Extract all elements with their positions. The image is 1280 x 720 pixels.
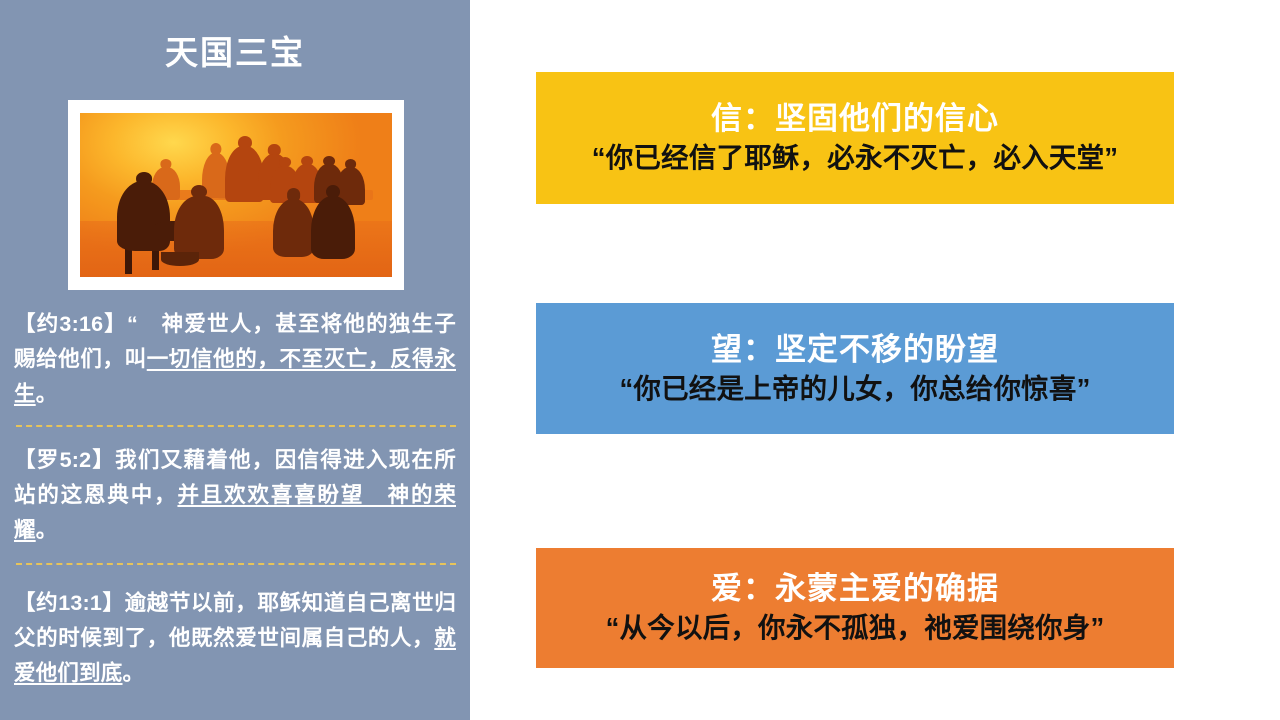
banner-love-subtitle: “从今以后，你永不孤独，祂爱围绕你身” [606, 612, 1105, 644]
verse-john-3-16: 【约3:16】“ 神爱世人，甚至将他的独生子赐给他们，叫一切信他的，不至灭亡，反… [14, 307, 456, 412]
banner-faith: 信：坚固他们的信心 “你已经信了耶稣，必永不灭亡，必入天堂” [536, 72, 1174, 204]
verse-text-tail: 。 [36, 382, 58, 406]
banner-faith-subtitle: “你已经信了耶稣，必永不灭亡，必入天堂” [592, 142, 1119, 174]
banner-faith-title: 信：坚固他们的信心 [711, 101, 999, 138]
verse-text-tail: 。 [36, 518, 58, 542]
figure-silhouette [273, 188, 314, 257]
figure-silhouette [311, 185, 355, 259]
verse-divider [16, 425, 456, 427]
page-title: 天国三宝 [0, 36, 470, 69]
banner-love-title: 爱：永蒙主爱的确据 [711, 571, 999, 608]
verse-romans-5-2: 【罗5:2】我们又藉着他，因信得进入现在所站的这恩典中，并且欢欢喜喜盼望 神的荣… [14, 443, 456, 548]
figure-jesus [174, 185, 224, 259]
verse-john-13-1: 【约13:1】逾越节以前，耶稣知道自己离世归父的时候到了，他既然爱世间属自己的人… [14, 586, 456, 691]
left-panel: 天国三宝 [0, 0, 470, 720]
banner-love: 爱：永蒙主爱的确据 “从今以后，你永不孤独，祂爱围绕你身” [536, 548, 1174, 668]
verse-text-plain: 【约13:1】逾越节以前，耶稣知道自己离世归父的时候到了，他既然爱世间属自己的人… [14, 591, 456, 650]
basin-icon [161, 252, 198, 265]
slide-canvas: 天国三宝 [0, 0, 1280, 720]
banner-hope-title: 望：坚定不移的盼望 [711, 332, 999, 369]
banner-hope-subtitle: “你已经是上帝的儿女，你总给你惊喜” [619, 373, 1090, 405]
verse-text-tail: 。 [123, 661, 145, 685]
verse-divider [16, 563, 456, 565]
illustration-frame [68, 100, 404, 290]
banner-hope: 望：坚定不移的盼望 “你已经是上帝的儿女，你总给你惊喜” [536, 303, 1174, 434]
jesus-washing-feet-illustration [80, 113, 392, 277]
